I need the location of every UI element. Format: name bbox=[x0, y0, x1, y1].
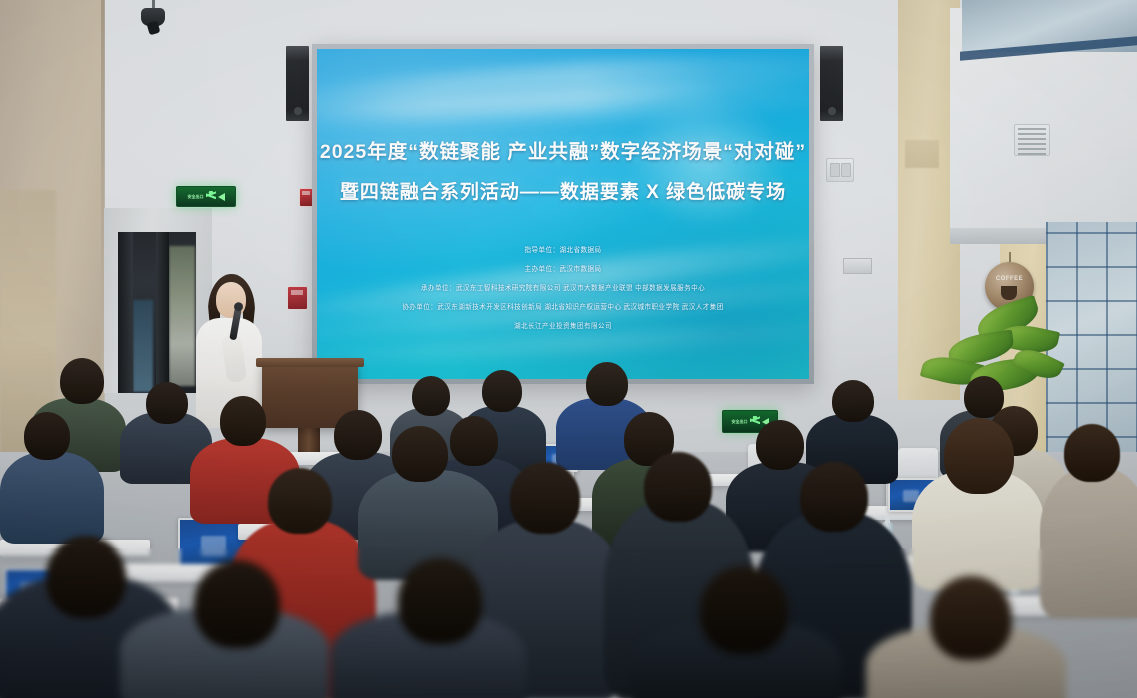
attendee bbox=[1040, 468, 1137, 618]
exit-sign-right-label: 安全出口 bbox=[732, 420, 748, 424]
attendee-head bbox=[1064, 424, 1120, 482]
corridor-glimpse-2 bbox=[133, 300, 153, 392]
attendee-head-long-hair bbox=[944, 418, 1014, 494]
slide-title-line2: 暨四链融合系列活动——数据要素 X 绿色低碳专场 bbox=[317, 177, 809, 204]
foreground-attendee-head bbox=[46, 536, 126, 618]
exit-sign-left-label: 安全出口 bbox=[188, 195, 204, 199]
wall-speaker-right-icon bbox=[818, 44, 845, 123]
exit-sign-left: 安全出口 bbox=[176, 186, 236, 207]
coffee-sign-label: COFFEE bbox=[985, 276, 1034, 282]
running-man-icon bbox=[206, 191, 216, 202]
door-leaf-right[interactable] bbox=[156, 232, 169, 393]
corridor-glimpse bbox=[169, 246, 195, 386]
fire-alarm-call-point-icon[interactable] bbox=[287, 286, 308, 310]
exit-arrow-icon bbox=[218, 193, 225, 201]
attendee-head bbox=[800, 462, 868, 532]
foreground-attendee-head bbox=[194, 560, 280, 648]
attendee-head bbox=[60, 358, 104, 404]
attendee-head bbox=[268, 468, 332, 534]
attendee-head bbox=[220, 396, 266, 446]
credit-line-2: 承办单位：武汉东工智科技术研究院有限公司 武汉市大数据产业联盟 中部数据发展服务… bbox=[317, 279, 809, 298]
attendee-head bbox=[644, 452, 712, 522]
presenter-head bbox=[216, 282, 246, 318]
foreground-attendee-head bbox=[930, 576, 1012, 660]
wall-sign bbox=[905, 140, 939, 168]
attendee-head bbox=[482, 370, 522, 412]
wall-plaque bbox=[843, 258, 872, 274]
slide-credits: 指导单位：湖北省数据局 主办单位：武汉市数据局 承办单位：武汉东工智科技术研究院… bbox=[317, 241, 809, 336]
foreground-attendee-head bbox=[700, 566, 788, 654]
projection-screen-frame: 2025年度“数链聚能 产业共融”数字经济场景“对对碰” 暨四链融合系列活动——… bbox=[312, 44, 814, 384]
attendee-head bbox=[334, 410, 382, 460]
attendee bbox=[0, 452, 104, 544]
credit-line-4: 湖北长江产业投资集团有限公司 bbox=[317, 317, 809, 336]
wall-speaker-left-icon bbox=[284, 44, 311, 123]
running-man-icon bbox=[750, 416, 760, 427]
podium-top bbox=[256, 358, 364, 367]
credit-line-1: 主办单位：武汉市数据局 bbox=[317, 260, 809, 279]
attendee-head bbox=[392, 426, 448, 482]
projection-screen: 2025年度“数链聚能 产业共融”数字经济场景“对对碰” 暨四链融合系列活动——… bbox=[317, 49, 809, 379]
attendee-head bbox=[24, 412, 70, 460]
foreground-attendee-head bbox=[398, 558, 482, 644]
attendee-head bbox=[510, 462, 580, 534]
slide-title-line1: 2025年度“数链聚能 产业共融”数字经济场景“对对碰” bbox=[317, 135, 809, 164]
door-leaf-left[interactable] bbox=[118, 232, 133, 393]
attendee-head bbox=[450, 416, 498, 466]
conference-photo: 安全出口 安全出口 COFFEE 2025年度“数链聚能 产业共融”数字经济场景… bbox=[0, 0, 1137, 698]
attendee-head bbox=[412, 376, 450, 416]
attendee-head bbox=[146, 382, 188, 424]
coffee-cup-icon bbox=[1001, 286, 1017, 300]
attendee-head bbox=[756, 420, 804, 470]
light-switch-panel[interactable] bbox=[826, 158, 854, 182]
air-conditioner-vent-icon bbox=[1014, 124, 1050, 156]
credit-line-0: 指导单位：湖北省数据局 bbox=[317, 241, 809, 260]
attendee-head bbox=[586, 362, 628, 406]
credit-line-3: 协办单位：武汉东湖新技术开发区科技创新局 湖北省知识产权运营中心 武汉城市职业学… bbox=[317, 298, 809, 317]
attendee-head bbox=[832, 380, 874, 422]
